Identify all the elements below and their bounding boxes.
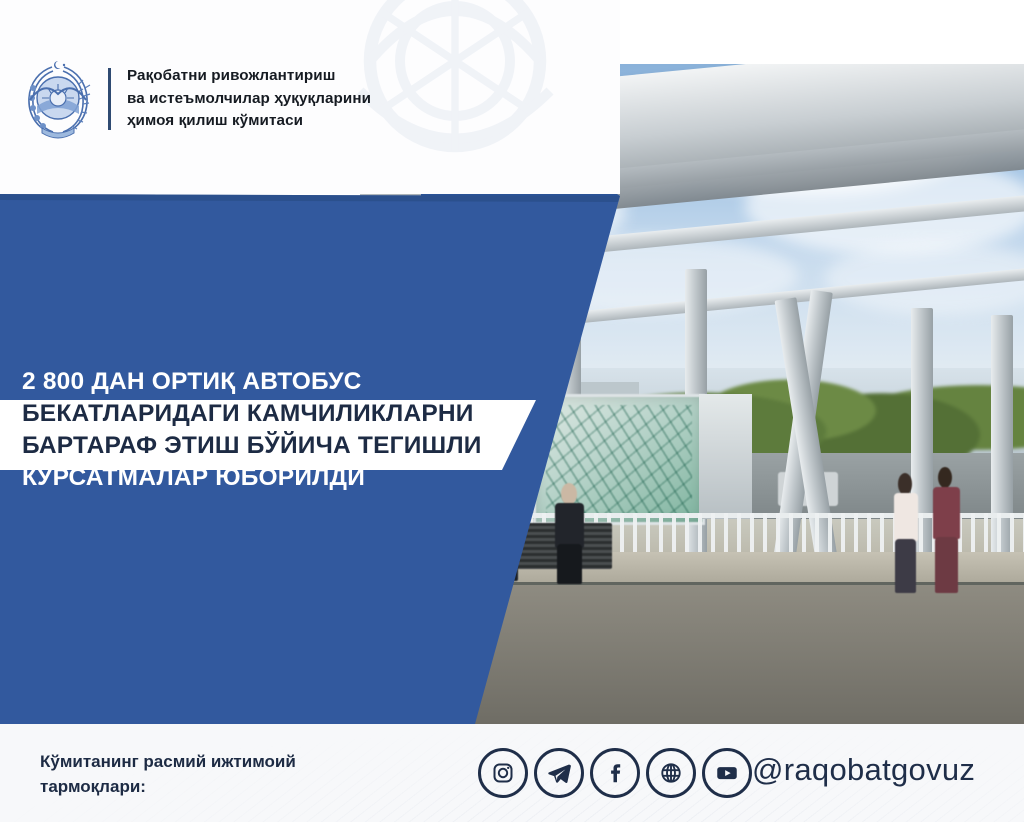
- uzbekistan-state-emblem-icon: [22, 58, 94, 140]
- social-media-poster: Рақобатни ривожлантириш ва истеъмолчилар…: [0, 0, 1024, 822]
- poster-header: Рақобатни ривожлантириш ва истеъмолчилар…: [0, 0, 620, 194]
- logo-divider: [108, 68, 111, 130]
- youtube-icon[interactable]: [702, 748, 752, 798]
- instagram-icon[interactable]: [478, 748, 528, 798]
- headline-line-4: КЎРСАТМАЛАР ЮБОРИЛДИ: [22, 462, 365, 494]
- footer-label: Кўмитанинг расмий ижтимоий тармоқлари:: [40, 750, 296, 799]
- headline-line-3: БАРТАРАФ ЭТИШ БЎЙИЧА ТЕГИШЛИ: [22, 430, 482, 462]
- social-links: [478, 748, 752, 798]
- logo-row: Рақобатни ривожлантириш ва истеъмолчилар…: [22, 58, 371, 140]
- facebook-icon[interactable]: [590, 748, 640, 798]
- headline-line-2: БЕКАТЛАРИДАГИ КАМЧИЛИКЛАРНИ: [22, 398, 474, 430]
- website-icon[interactable]: [646, 748, 696, 798]
- headline-line-1: 2 800 ДАН ОРТИҚ АВТОБУС: [22, 366, 362, 398]
- telegram-icon[interactable]: [534, 748, 584, 798]
- organization-name: Рақобатни ривожлантириш ва истеъмолчилар…: [127, 65, 371, 133]
- social-handle[interactable]: @raqobatgovuz: [752, 752, 975, 788]
- headline: 2 800 ДАН ОРТИҚ АВТОБУС БЕКАТЛАРИДАГИ КА…: [22, 366, 562, 493]
